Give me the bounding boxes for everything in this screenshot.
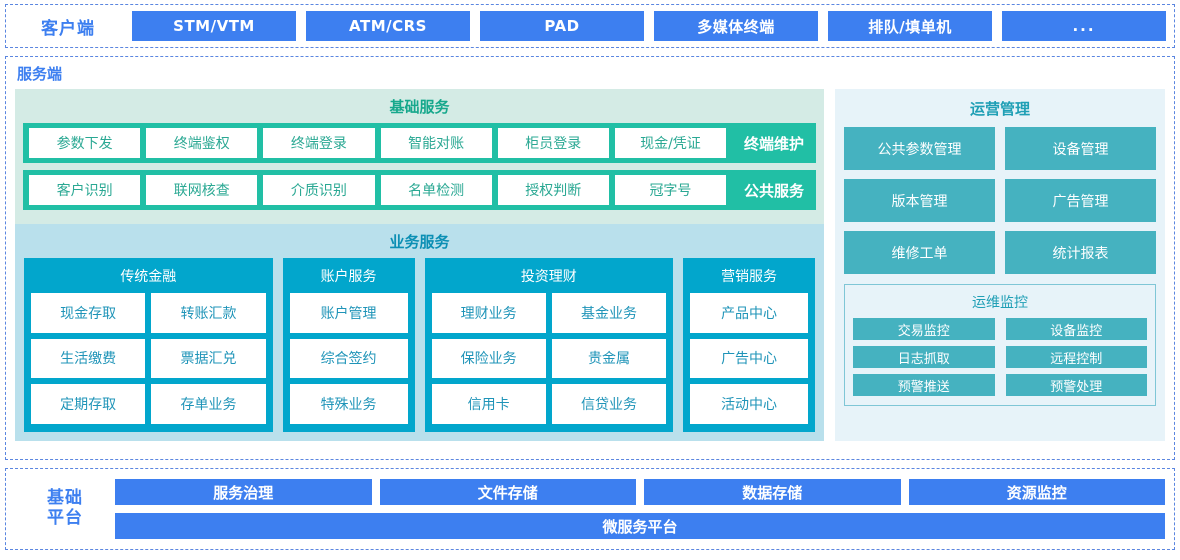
biz-cell-activity-center[interactable]: 活动中心 (690, 384, 808, 424)
business-group-items: 理财业务 基金业务 保险业务 贵金属 信用卡 信贷业务 (432, 293, 667, 424)
client-item-multimedia-terminal[interactable]: 多媒体终端 (654, 11, 818, 41)
biz-cell-fund-business[interactable]: 基金业务 (552, 293, 666, 333)
basic-row-tag-terminal-maintenance: 终端维护 (732, 128, 816, 158)
business-group-items: 现金存取 转账汇款 生活缴费 票据汇兑 定期存取 存单业务 (31, 293, 266, 424)
ops-cell-version-management[interactable]: 版本管理 (844, 179, 995, 222)
basic-cell-serial-number[interactable]: 冠字号 (615, 175, 726, 205)
monitor-cell-alert-handling[interactable]: 预警处理 (1006, 374, 1148, 396)
platform-layer: 基础 平台 服务治理 文件存储 数据存储 资源监控 微服务平台 (5, 468, 1175, 550)
server-layer-label: 服务端 (17, 63, 1165, 84)
server-body: 基础服务 参数下发 终端鉴权 终端登录 智能对账 柜员登录 现金/凭证 终端维护… (15, 89, 1165, 441)
basic-cell-customer-identify[interactable]: 客户识别 (29, 175, 140, 205)
basic-services-rows: 参数下发 终端鉴权 终端登录 智能对账 柜员登录 现金/凭证 终端维护 客户识别… (15, 123, 824, 218)
biz-cell-fixed-deposit[interactable]: 定期存取 (31, 384, 145, 424)
business-group-title: 账户服务 (290, 263, 408, 293)
basic-cell-authorization-judgement[interactable]: 授权判断 (498, 175, 609, 205)
client-layer: 客户端 STM/VTM ATM/CRS PAD 多媒体终端 排队/填单机 ... (5, 4, 1175, 48)
biz-cell-credit-business[interactable]: 信贷业务 (552, 384, 666, 424)
business-group-title: 营销服务 (690, 263, 808, 293)
biz-cell-precious-metals[interactable]: 贵金属 (552, 339, 666, 379)
monitor-cell-transaction-monitoring[interactable]: 交易监控 (853, 318, 995, 340)
client-item-atm-crs[interactable]: ATM/CRS (306, 11, 470, 41)
platform-chip-row: 服务治理 文件存储 数据存储 资源监控 (115, 479, 1165, 505)
business-services-title: 业务服务 (15, 224, 824, 258)
business-group-title: 投资理财 (432, 263, 667, 293)
client-item-more[interactable]: ... (1002, 11, 1166, 41)
architecture-diagram: 客户端 STM/VTM ATM/CRS PAD 多媒体终端 排队/填单机 ...… (0, 0, 1180, 560)
basic-cell-terminal-login[interactable]: 终端登录 (263, 128, 374, 158)
platform-chip-file-storage[interactable]: 文件存储 (380, 479, 637, 505)
business-group-title: 传统金融 (31, 263, 266, 293)
basic-services-row-terminal-maintenance: 参数下发 终端鉴权 终端登录 智能对账 柜员登录 现金/凭证 终端维护 (23, 123, 816, 163)
monitor-cell-alert-push[interactable]: 预警推送 (853, 374, 995, 396)
platform-chip-resource-monitoring[interactable]: 资源监控 (909, 479, 1166, 505)
business-groups: 传统金融 现金存取 转账汇款 生活缴费 票据汇兑 定期存取 存单业务 (15, 258, 824, 441)
operations-column: 运营管理 公共参数管理 设备管理 版本管理 广告管理 维修工单 统计报表 运维监… (835, 89, 1165, 441)
basic-cell-terminal-auth[interactable]: 终端鉴权 (146, 128, 257, 158)
business-group-investment-finance: 投资理财 理财业务 基金业务 保险业务 贵金属 信用卡 信贷业务 (425, 258, 674, 432)
monitor-cell-remote-control[interactable]: 远程控制 (1006, 346, 1148, 368)
biz-cell-product-center[interactable]: 产品中心 (690, 293, 808, 333)
biz-cell-bill-exchange[interactable]: 票据汇兑 (151, 339, 265, 379)
ops-cell-repair-work-order[interactable]: 维修工单 (844, 231, 995, 274)
platform-content: 服务治理 文件存储 数据存储 资源监控 微服务平台 (115, 479, 1165, 539)
operations-title: 运营管理 (844, 96, 1156, 127)
monitor-panel: 运维监控 交易监控 设备监控 日志抓取 远程控制 预警推送 预警处理 (844, 284, 1156, 406)
business-group-items: 账户管理 综合签约 特殊业务 (290, 293, 408, 424)
biz-cell-certificate-deposit[interactable]: 存单业务 (151, 384, 265, 424)
platform-chip-data-storage[interactable]: 数据存储 (644, 479, 901, 505)
basic-cell-smart-reconciliation[interactable]: 智能对账 (381, 128, 492, 158)
biz-cell-account-management[interactable]: 账户管理 (290, 293, 408, 333)
monitor-title: 运维监控 (853, 290, 1147, 318)
platform-label-line2: 平台 (15, 509, 115, 529)
biz-cell-comprehensive-signing[interactable]: 综合签约 (290, 339, 408, 379)
basic-cell-list-check[interactable]: 名单检测 (381, 175, 492, 205)
biz-cell-wealth-management[interactable]: 理财业务 (432, 293, 546, 333)
biz-cell-insurance-business[interactable]: 保险业务 (432, 339, 546, 379)
biz-cell-special-business[interactable]: 特殊业务 (290, 384, 408, 424)
basic-cell-online-verification[interactable]: 联网核查 (146, 175, 257, 205)
business-group-account-service: 账户服务 账户管理 综合签约 特殊业务 (283, 258, 415, 432)
basic-cell-teller-login[interactable]: 柜员登录 (498, 128, 609, 158)
operations-grid: 公共参数管理 设备管理 版本管理 广告管理 维修工单 统计报表 (844, 127, 1156, 274)
ops-cell-public-parameter-management[interactable]: 公共参数管理 (844, 127, 995, 170)
basic-cell-param-dispatch[interactable]: 参数下发 (29, 128, 140, 158)
ops-cell-statistical-report[interactable]: 统计报表 (1005, 231, 1156, 274)
services-column: 基础服务 参数下发 终端鉴权 终端登录 智能对账 柜员登录 现金/凭证 终端维护… (15, 89, 824, 441)
business-group-traditional-finance: 传统金融 现金存取 转账汇款 生活缴费 票据汇兑 定期存取 存单业务 (24, 258, 273, 432)
client-item-pad[interactable]: PAD (480, 11, 644, 41)
biz-cell-cash-deposit-withdraw[interactable]: 现金存取 (31, 293, 145, 333)
server-layer: 服务端 基础服务 参数下发 终端鉴权 终端登录 智能对账 柜员登录 现金/凭证 … (5, 56, 1175, 460)
business-services-section: 业务服务 传统金融 现金存取 转账汇款 生活缴费 票据汇兑 定期存取 存单业务 (15, 224, 824, 441)
platform-chip-service-governance[interactable]: 服务治理 (115, 479, 372, 505)
biz-cell-credit-card[interactable]: 信用卡 (432, 384, 546, 424)
biz-cell-transfer-remittance[interactable]: 转账汇款 (151, 293, 265, 333)
client-item-stm-vtm[interactable]: STM/VTM (132, 11, 296, 41)
monitor-cell-device-monitoring[interactable]: 设备监控 (1006, 318, 1148, 340)
ops-cell-advertising-management[interactable]: 广告管理 (1005, 179, 1156, 222)
ops-cell-device-management[interactable]: 设备管理 (1005, 127, 1156, 170)
biz-cell-advertising-center[interactable]: 广告中心 (690, 339, 808, 379)
biz-cell-living-payment[interactable]: 生活缴费 (31, 339, 145, 379)
monitor-cell-log-capture[interactable]: 日志抓取 (853, 346, 995, 368)
client-layer-label: 客户端 (14, 14, 122, 39)
basic-cell-cash-voucher[interactable]: 现金/凭证 (615, 128, 726, 158)
business-group-marketing-service: 营销服务 产品中心 广告中心 活动中心 (683, 258, 815, 432)
basic-services-title: 基础服务 (15, 89, 824, 123)
basic-cell-media-recognition[interactable]: 介质识别 (263, 175, 374, 205)
platform-label-line1: 基础 (15, 489, 115, 509)
basic-services-row-public-service: 客户识别 联网核查 介质识别 名单检测 授权判断 冠字号 公共服务 (23, 170, 816, 210)
monitor-grid: 交易监控 设备监控 日志抓取 远程控制 预警推送 预警处理 (853, 318, 1147, 396)
client-item-queue-form-machine[interactable]: 排队/填单机 (828, 11, 992, 41)
platform-microservice-bar[interactable]: 微服务平台 (115, 513, 1165, 539)
basic-row-tag-public-service: 公共服务 (732, 175, 816, 205)
platform-layer-label: 基础 平台 (15, 489, 115, 528)
business-group-items: 产品中心 广告中心 活动中心 (690, 293, 808, 424)
